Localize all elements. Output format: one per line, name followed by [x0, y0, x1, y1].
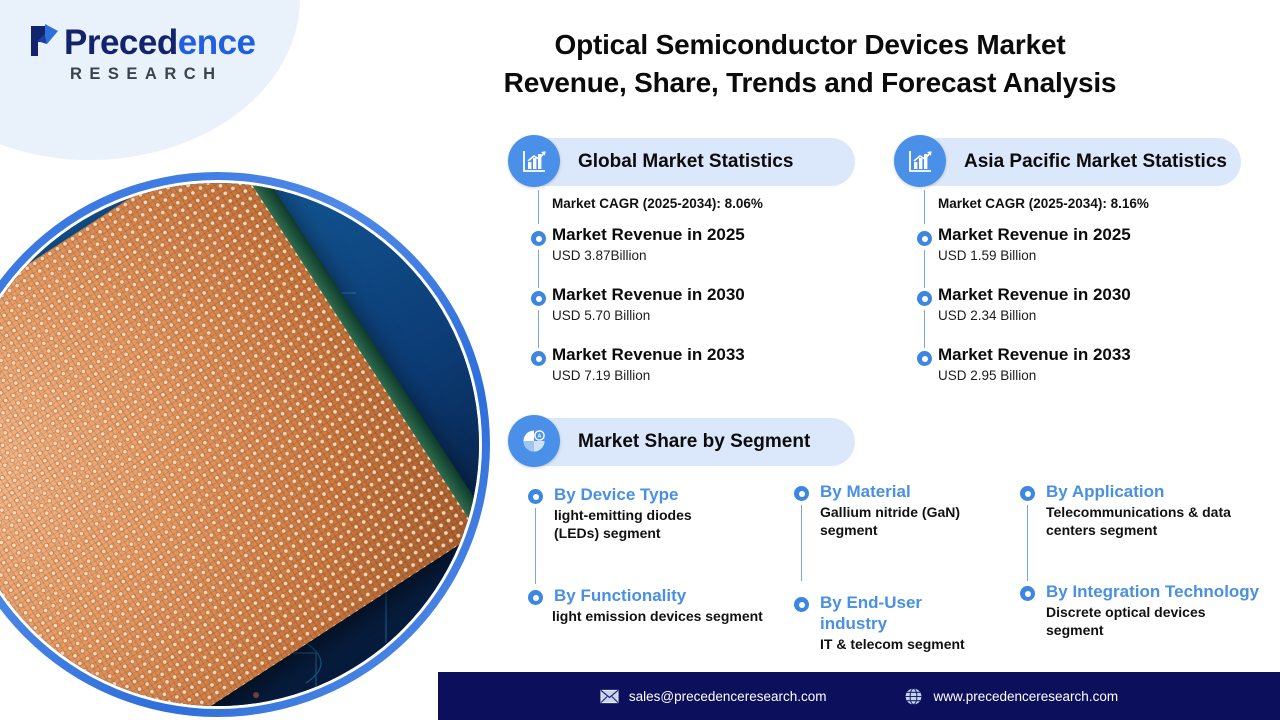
panel-header-global: Global Market Statistics	[510, 138, 855, 186]
panel-title-global: Global Market Statistics	[578, 151, 793, 173]
stat-item: Market Revenue in 2025 USD 3.87Billion	[510, 224, 860, 284]
timeline-line	[801, 505, 802, 581]
stat-value: USD 2.34 Billion	[938, 308, 1246, 323]
stat-label: Market Revenue in 2033	[552, 344, 860, 366]
stat-item: Market Revenue in 2033 USD 2.95 Billion	[896, 344, 1246, 404]
segment-desc: light-emitting diodes (LEDs) segment	[554, 506, 724, 542]
footer-website-text: www.precedenceresearch.com	[933, 689, 1118, 704]
timeline-line	[538, 310, 539, 348]
brand-name: Precedence	[64, 26, 256, 60]
timeline-line	[535, 508, 536, 584]
brand-name-text: Precedence	[64, 23, 256, 62]
svg-text:A: A	[538, 434, 542, 440]
precedence-arrow-logo-icon	[28, 22, 62, 60]
segment-desc: Telecommunications & data centers segmen…	[1046, 503, 1231, 539]
page-title-line-1: Optical Semiconductor Devices Market	[430, 26, 1190, 64]
stat-item: Market Revenue in 2025 USD 1.59 Billion	[896, 224, 1246, 284]
stat-label: Market Revenue in 2030	[938, 284, 1246, 306]
segment-item-material: By Material Gallium nitride (GaN) segmen…	[794, 481, 994, 539]
bullet-marker	[794, 486, 809, 501]
segment-item-end-user-industry: By End-User industry IT & telecom segmen…	[794, 592, 994, 653]
bullet-marker	[917, 231, 932, 246]
segment-desc: Gallium nitride (GaN) segment	[820, 503, 985, 539]
segment-title: By Device Type	[554, 484, 778, 505]
envelope-icon	[600, 687, 619, 706]
bullet-marker	[794, 597, 809, 612]
footer-website[interactable]: www.precedenceresearch.com	[904, 687, 1118, 706]
stat-label: Market Revenue in 2025	[552, 224, 860, 246]
panel-title-asia-pacific: Asia Pacific Market Statistics	[964, 151, 1227, 173]
segment-desc: Discrete optical devices segment	[1046, 603, 1221, 639]
stat-value: USD 7.19 Billion	[552, 368, 860, 383]
panel-header-asia-pacific: Asia Pacific Market Statistics	[896, 138, 1241, 186]
stat-value: USD 1.59 Billion	[938, 248, 1246, 263]
timeline-line	[538, 250, 539, 288]
segment-item-device-type: By Device Type light-emitting diodes (LE…	[528, 484, 778, 542]
bullet-marker	[528, 489, 543, 504]
cagr-global: Market CAGR (2025-2034): 8.06%	[510, 190, 860, 216]
bullet-marker	[531, 231, 546, 246]
bullet-marker	[1020, 486, 1035, 501]
page-title-line-2: Revenue, Share, Trends and Forecast Anal…	[430, 64, 1190, 102]
panel-header-segments: A Market Share by Segment	[510, 418, 855, 466]
footer-bar: sales@precedenceresearch.com www.precede…	[438, 672, 1280, 720]
stat-item: Market Revenue in 2030 USD 2.34 Billion	[896, 284, 1246, 344]
bullet-marker	[1020, 586, 1035, 601]
page-title: Optical Semiconductor Devices Market Rev…	[430, 26, 1190, 102]
segment-desc: IT & telecom segment	[820, 635, 1015, 653]
pie-chart-icon: A	[508, 415, 560, 467]
segment-item-integration-technology: By Integration Technology Discrete optic…	[1020, 581, 1280, 639]
bullet-marker	[528, 590, 543, 605]
timeline-line	[924, 250, 925, 288]
footer-email[interactable]: sales@precedenceresearch.com	[600, 687, 827, 706]
footer-email-text: sales@precedenceresearch.com	[629, 689, 827, 704]
stat-label: Market Revenue in 2025	[938, 224, 1246, 246]
bullet-marker	[917, 291, 932, 306]
cagr-asia-pacific: Market CAGR (2025-2034): 8.16%	[896, 190, 1246, 216]
segment-item-functionality: By Functionality light emission devices …	[528, 585, 798, 625]
stat-item: Market Revenue in 2030 USD 5.70 Billion	[510, 284, 860, 344]
segment-desc: light emission devices segment	[552, 607, 812, 625]
timeline-line	[1027, 505, 1028, 581]
stat-value: USD 5.70 Billion	[552, 308, 860, 323]
segment-title: By Application	[1046, 481, 1235, 502]
bullet-marker	[917, 351, 932, 366]
panel-title-segments: Market Share by Segment	[578, 431, 810, 453]
stat-value: USD 3.87Billion	[552, 248, 860, 263]
segment-item-application: By Application Telecommunications & data…	[1020, 481, 1235, 539]
segment-title: By Functionality	[554, 585, 798, 606]
brand-logo[interactable]: Precedence RESEARCH	[28, 22, 256, 84]
segment-title: By Integration Technology	[1046, 581, 1280, 602]
stat-list-asia-pacific: Market CAGR (2025-2034): 8.16% Market Re…	[896, 190, 1246, 404]
stat-value: USD 2.95 Billion	[938, 368, 1246, 383]
bullet-marker	[531, 351, 546, 366]
stat-label: Market Revenue in 2033	[938, 344, 1246, 366]
segment-title: By End-User industry	[820, 592, 950, 634]
bullet-marker	[531, 291, 546, 306]
bar-chart-growth-icon	[894, 135, 946, 187]
stat-label: Market Revenue in 2030	[552, 284, 860, 306]
bar-chart-growth-icon	[508, 135, 560, 187]
stat-item: Market Revenue in 2033 USD 7.19 Billion	[510, 344, 860, 404]
segment-title: By Material	[820, 481, 994, 502]
brand-subtitle: RESEARCH	[70, 65, 256, 84]
stat-list-global: Market CAGR (2025-2034): 8.06% Market Re…	[510, 190, 860, 404]
timeline-line	[924, 310, 925, 348]
globe-icon	[904, 687, 923, 706]
